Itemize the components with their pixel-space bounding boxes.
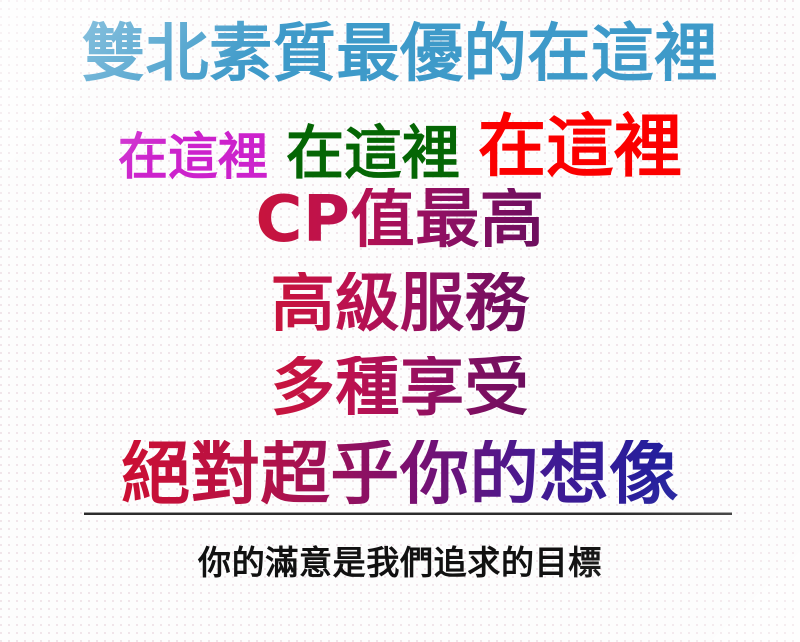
closing-line-text: 絕對超乎你的想像 (121, 440, 679, 509)
horizontal-divider (84, 512, 732, 515)
feature-line-cp-value-text: CP值最高 (255, 188, 544, 252)
feature-line-cp-value: CP值最高 (0, 188, 800, 252)
here-text-red: 在這裡 (478, 114, 682, 182)
promo-poster: 雙北素質最優的在這裡 在這裡 在這裡 在這裡 CP值最高 高級服務 多種享受 絕… (0, 0, 800, 642)
feature-line-premium-service-text: 高級服務 (271, 272, 530, 336)
feature-line-varied-enjoyment-text: 多種享受 (271, 356, 530, 420)
tagline-text: 你的滿意是我們追求的目標 (0, 546, 800, 579)
feature-line-varied-enjoyment: 多種享受 (0, 356, 800, 420)
closing-line: 絕對超乎你的想像 (0, 440, 800, 509)
feature-line-premium-service: 高級服務 (0, 272, 800, 336)
here-text-magenta: 在這裡 (118, 132, 268, 182)
here-variants-row: 在這裡 在這裡 在這裡 (0, 102, 800, 182)
headline-text: 雙北素質最優的在這裡 (0, 22, 800, 85)
here-text-green: 在這裡 (286, 124, 460, 182)
